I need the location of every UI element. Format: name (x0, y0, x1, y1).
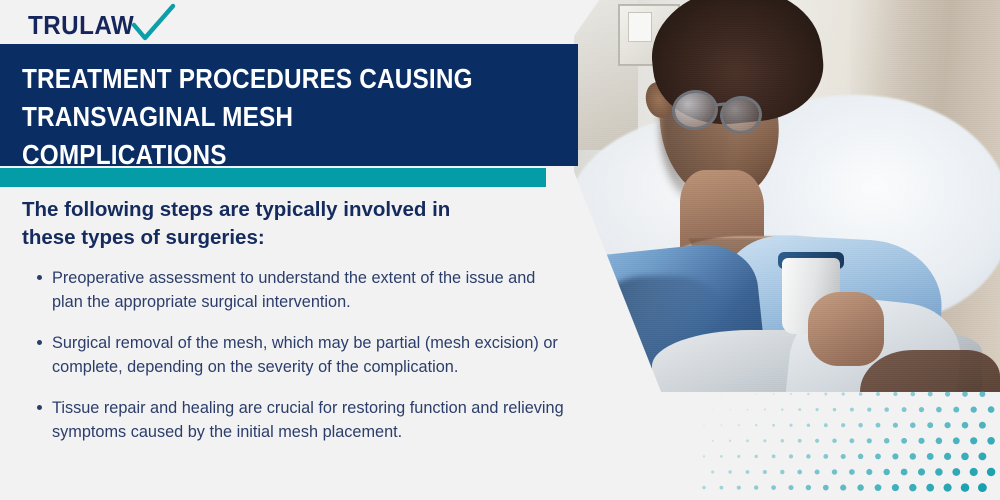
list-item: Surgical removal of the mesh, which may … (0, 331, 565, 379)
dot-pattern-decoration (700, 388, 1000, 500)
trulaw-logo[interactable]: TRULAW (28, 6, 228, 44)
list-item: Tissue repair and healing are crucial fo… (0, 396, 565, 444)
page-title: TREATMENT PROCEDURES CAUSING TRANSVAGINA… (22, 60, 500, 174)
logo-wordmark: TRULAW (28, 12, 134, 38)
checkmark-icon (131, 3, 176, 43)
steps-list: Preoperative assessment to understand th… (0, 266, 565, 444)
list-item: Preoperative assessment to understand th… (0, 266, 565, 314)
body-content: The following steps are typically involv… (0, 196, 565, 461)
teal-accent-bar (0, 168, 546, 187)
patient-in-hospital-bed-photo (560, 0, 1000, 400)
title-banner: TREATMENT PROCEDURES CAUSING TRANSVAGINA… (0, 44, 578, 166)
lede-heading: The following steps are typically involv… (22, 196, 538, 252)
hero-image (560, 0, 1000, 400)
infographic-canvas: TRULAW (0, 0, 1000, 500)
